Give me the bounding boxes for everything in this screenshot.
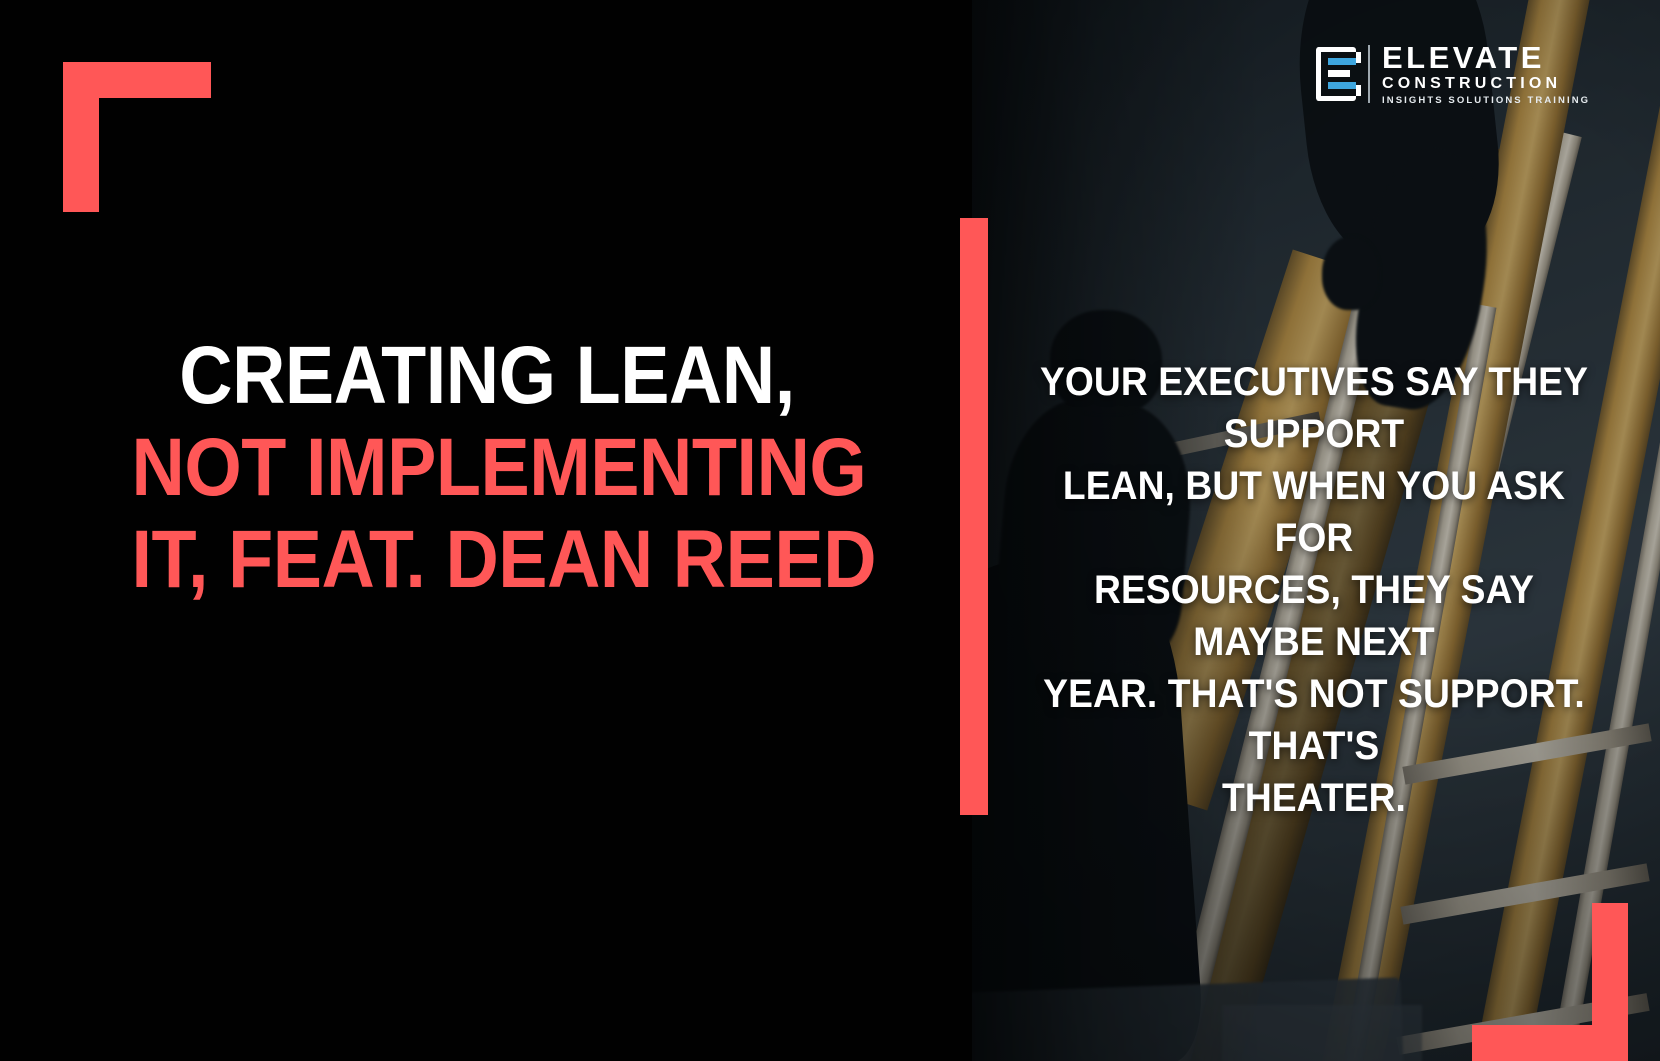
corner-bracket-top-left-icon — [63, 62, 211, 212]
page-title: CREATING LEAN, NOT IMPLEMENTING IT, FEAT… — [92, 330, 882, 605]
quote-line-4: YEAR. THAT'S NOT SUPPORT. THAT'S — [1024, 668, 1604, 772]
logo-divider-rule — [1368, 45, 1370, 103]
quote-line-1: YOUR EXECUTIVES SAY THEY SUPPORT — [1024, 356, 1604, 460]
quote-line-5: THEATER. — [1024, 772, 1604, 824]
quote-line-2: LEAN, BUT WHEN YOU ASK FOR — [1024, 460, 1604, 564]
quote-line-3: RESOURCES, THEY SAY MAYBE NEXT — [1024, 564, 1604, 668]
title-line-2: NOT IMPLEMENTING — [132, 422, 843, 514]
corner-bracket-bottom-right-icon — [1472, 903, 1628, 1061]
logo-tagline: INSIGHTS SOLUTIONS TRAINING — [1382, 96, 1590, 106]
quote-text: YOUR EXECUTIVES SAY THEY SUPPORT LEAN, B… — [984, 356, 1644, 824]
logo-name: ELEVATE — [1382, 42, 1590, 73]
e-mark-bar-top — [1328, 58, 1356, 65]
title-line-1: CREATING LEAN, — [132, 330, 843, 422]
promo-card: CREATING LEAN, NOT IMPLEMENTING IT, FEAT… — [0, 0, 1660, 1061]
logo-subname: CONSTRUCTION — [1382, 76, 1590, 92]
bracket-vertical-bar — [63, 62, 99, 212]
elevate-e-mark-icon — [1316, 47, 1356, 101]
e-mark-bar-bottom — [1328, 82, 1356, 89]
title-line-3: IT, FEAT. DEAN REED — [132, 514, 843, 606]
brand-logo: ELEVATE CONSTRUCTION INSIGHTS SOLUTIONS … — [1316, 42, 1590, 106]
logo-wordmark: ELEVATE CONSTRUCTION INSIGHTS SOLUTIONS … — [1382, 42, 1590, 106]
e-mark-bar-middle — [1328, 70, 1350, 77]
bracket-vertical-bar — [1592, 903, 1628, 1061]
